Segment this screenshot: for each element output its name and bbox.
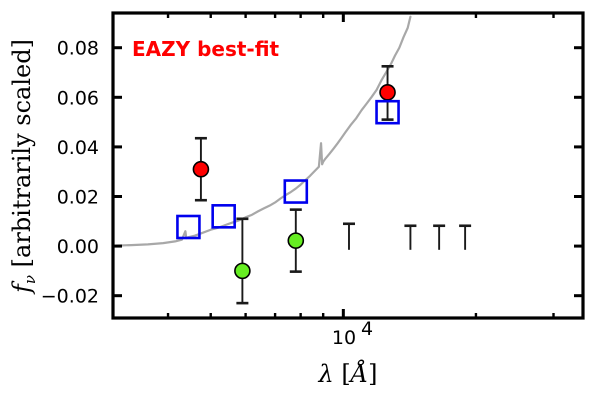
x-axis-title-text: λ [Å] — [318, 359, 378, 388]
x-tick-label-10e4: 10 4 — [332, 318, 373, 349]
y-tick-labels: −0.020.000.020.040.060.08 — [41, 38, 99, 308]
y-tick-label: 0.08 — [57, 38, 99, 60]
y-tick-label: 0.04 — [57, 137, 99, 159]
x-tick-exponent: 4 — [361, 318, 373, 340]
y-tick-label: 0.06 — [57, 87, 99, 109]
data-point-marker — [193, 162, 208, 177]
data-point-marker — [380, 85, 395, 100]
y-axis-title: fν [arbitrarily scaled] — [8, 39, 39, 295]
y-axis-title-text: fν [arbitrarily scaled] — [8, 39, 39, 295]
x-tick-mantissa: 10 — [332, 327, 356, 349]
y-tick-label: −0.02 — [41, 286, 99, 308]
y-tick-label: 0.00 — [57, 236, 99, 258]
x-axis-title: λ [Å] — [318, 359, 378, 388]
lambda-symbol: λ — [318, 360, 334, 388]
y-tick-label: 0.02 — [57, 186, 99, 208]
data-point-marker — [288, 233, 303, 248]
figure-container: −0.020.000.020.040.060.08 10 4 λ [Å] fν … — [0, 0, 600, 400]
eazy-best-fit-annotation: EAZY best-fit — [132, 37, 280, 61]
sed-plot: −0.020.000.020.040.060.08 10 4 λ [Å] fν … — [0, 0, 600, 400]
data-point-marker — [235, 263, 250, 278]
